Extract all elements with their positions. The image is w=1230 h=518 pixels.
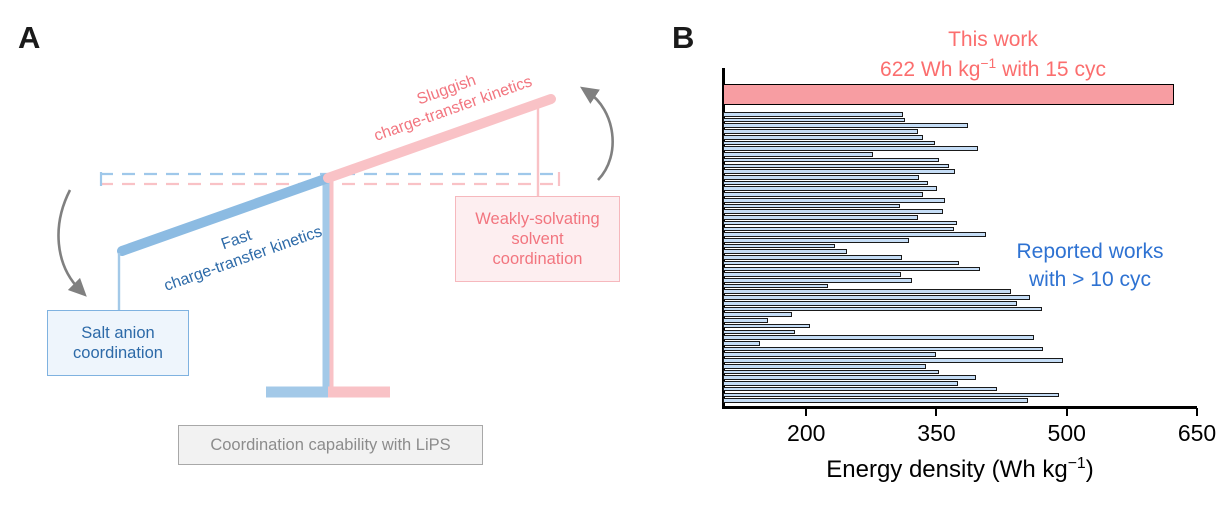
arrow-right-up (588, 92, 613, 180)
bar-reported-work (723, 324, 810, 329)
bar-reported-work (723, 181, 928, 186)
bar-reported-work (723, 238, 909, 243)
bar-reported-work (723, 398, 1028, 403)
bar-reported-work (723, 244, 835, 249)
coordination-capability-label: Coordination capability with LiPS (210, 435, 450, 455)
x-axis-title: Energy density (Wh kg−1) (710, 455, 1210, 484)
bar-reported-work (723, 227, 954, 232)
bar-reported-work (723, 169, 955, 174)
bar-reported-work (723, 289, 1011, 294)
bar-reported-work (723, 192, 923, 197)
bar-reported-work (723, 335, 1034, 340)
panel-a-diagram: A (0, 0, 650, 513)
bar-reported-work (723, 129, 918, 134)
bar-reported-work (723, 347, 1043, 352)
bar-reported-work (723, 267, 980, 272)
x-tick-350 (935, 408, 937, 416)
x-tick-500 (1066, 408, 1068, 416)
bar-reported-work (723, 123, 968, 128)
x-tick-label-200: 200 (787, 420, 825, 447)
bar-reported-work (723, 152, 873, 157)
x-tick-label-500: 500 (1048, 420, 1086, 447)
bar-reported-work (723, 135, 923, 140)
x-tick-label-350: 350 (917, 420, 955, 447)
plot-area: 200350500650 (722, 68, 1197, 406)
coordination-capability-box: Coordination capability with LiPS (178, 425, 483, 465)
bar-reported-work (723, 341, 760, 346)
bar-reported-work (723, 141, 935, 146)
x-tick-650 (1196, 408, 1198, 416)
bar-reported-work (723, 175, 919, 180)
bar-reported-work (723, 307, 1042, 312)
bar-reported-work (723, 364, 926, 369)
bar-reported-work (723, 318, 768, 323)
bar-reported-work (723, 284, 828, 289)
x-axis-line (722, 406, 1197, 409)
bar-reported-work (723, 375, 976, 380)
bar-reported-work (723, 118, 905, 123)
bar-reported-work (723, 186, 937, 191)
arrow-left-down (59, 190, 80, 290)
bar-reported-work (723, 387, 997, 392)
bar-reported-work (723, 330, 795, 335)
bar-reported-work (723, 272, 901, 277)
bar-reported-work (723, 112, 903, 117)
salt-box-line2: coordination (73, 343, 163, 363)
bar-reported-work (723, 381, 958, 386)
bar-reported-work (723, 301, 1017, 306)
bar-reported-work (723, 261, 959, 266)
bar-reported-work (723, 358, 1063, 363)
balance-diagram: Fast charge-transfer kinetics Sluggish c… (0, 0, 650, 513)
bar-reported-work (723, 278, 912, 283)
solvent-box-line2: solvent (475, 229, 599, 249)
salt-anion-coordination-box: Salt anion coordination (47, 310, 189, 376)
weakly-solvating-solvent-box: Weakly-solvating solvent coordination (455, 196, 620, 282)
x-tick-label-650: 650 (1178, 420, 1216, 447)
bar-reported-work (723, 393, 1059, 398)
bar-this-work (723, 84, 1174, 105)
salt-box-line1: Salt anion (73, 323, 163, 343)
bar-reported-work (723, 209, 943, 214)
x-tick-200 (805, 408, 807, 416)
bar-reported-work (723, 221, 957, 226)
panel-b-chart: B This work 622 Wh kg−1 with 15 cyc Repo… (650, 0, 1230, 513)
bar-reported-work (723, 232, 986, 237)
bar-reported-work (723, 370, 939, 375)
bar-reported-work (723, 312, 792, 317)
bar-reported-work (723, 158, 939, 163)
bar-reported-work (723, 146, 978, 151)
bar-reported-work (723, 204, 900, 209)
bar-reported-work (723, 215, 918, 220)
bar-reported-work (723, 255, 902, 260)
solvent-box-line1: Weakly-solvating (475, 209, 599, 229)
solvent-box-line3: coordination (475, 249, 599, 269)
bar-reported-work (723, 198, 945, 203)
bar-reported-work (723, 295, 1030, 300)
bar-reported-work (723, 249, 847, 254)
annotation-this-work-line1: This work (828, 26, 1158, 54)
bar-reported-work (723, 164, 949, 169)
energy-density-bar-chart: This work 622 Wh kg−1 with 15 cyc Report… (650, 0, 1230, 513)
bar-reported-work (723, 352, 936, 357)
